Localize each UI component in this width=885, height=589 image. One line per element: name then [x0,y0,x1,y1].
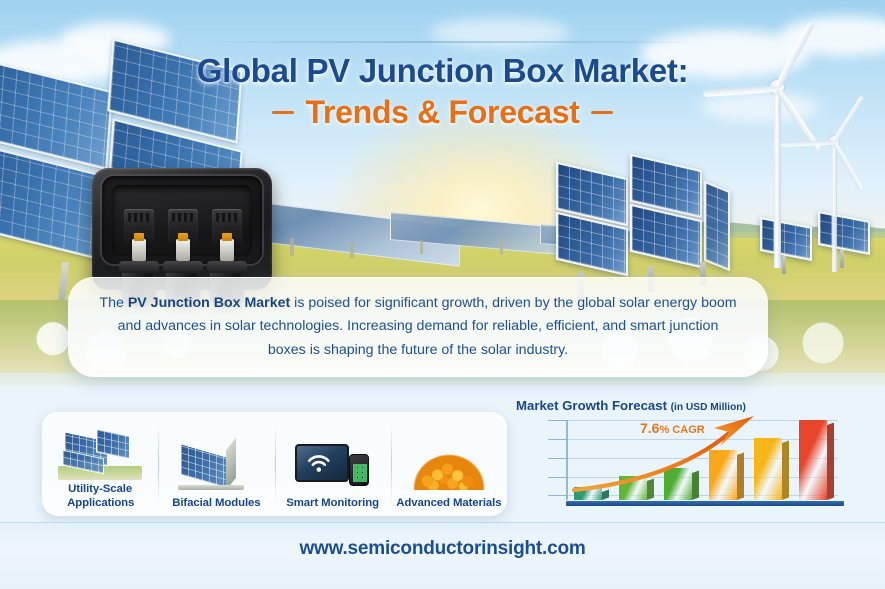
market-growth-chart: Market Growth Forecast (in USD Million) … [516,398,852,516]
feature-card-utility-scale[interactable]: Utility-Scale Applications [42,412,158,516]
feature-card-smart-monitoring[interactable]: Smart Monitoring [275,412,391,516]
solar-array-icon [58,426,142,480]
cagr-suffix: % CAGR [659,424,704,436]
wind-turbine-icon [808,120,885,270]
infographic-canvas: Global PV Junction Box Market: Trends & … [0,0,885,589]
cagr-value: 7.6 [640,420,659,436]
wifi-monitor-icon [291,440,375,494]
feature-label: Bifacial Modules [172,497,260,510]
feature-card-advanced-materials[interactable]: Advanced Materials [391,412,507,516]
summary-paragraph: The PV Junction Box Market is poised for… [98,292,738,363]
pv-junction-box-product-image [92,168,272,290]
website-url[interactable]: www.semiconductorinsight.com [0,538,885,560]
chart-bar [709,450,737,500]
cloud-icon [430,18,570,48]
summary-lead: The [99,295,127,311]
cagr-annotation: 7.6% CAGR [640,420,705,436]
chart-bar [799,420,827,500]
chart-baseline [566,501,844,506]
bifacial-panel-icon [174,440,258,494]
contact-clip [176,239,190,261]
dash-right-icon [591,111,613,114]
feature-label: Advanced Materials [396,497,501,510]
dash-left-icon [272,111,294,114]
subtitle-row: Trends & Forecast [0,94,885,131]
chart-bar [619,476,647,500]
chart-y-axis [566,420,568,500]
page-title: Global PV Junction Box Market: [0,52,885,90]
feature-label: Smart Monitoring [286,497,379,510]
feature-label: Utility-Scale Applications [67,483,133,510]
contact-clip [132,239,146,261]
page-subtitle: Trends & Forecast [305,94,579,131]
chart-bar [664,468,692,500]
feature-panel: Utility-Scale Applications Bifacial Modu… [42,412,507,516]
polymer-pellets-icon [407,440,491,494]
summary-strong: PV Junction Box Market [128,295,290,311]
chart-title-text: Market Growth Forecast [516,398,667,413]
feature-card-bifacial-modules[interactable]: Bifacial Modules [158,412,274,516]
chart-bar [754,438,782,500]
summary-card: The PV Junction Box Market is poised for… [68,277,768,377]
title-block: Global PV Junction Box Market: Trends & … [0,52,885,131]
horizon-divider [195,41,695,43]
contact-clip [220,239,234,261]
chart-bar [574,487,602,500]
chart-unit-label: (in USD Million) [671,402,746,413]
chart-title: Market Growth Forecast (in USD Million) [516,398,852,413]
